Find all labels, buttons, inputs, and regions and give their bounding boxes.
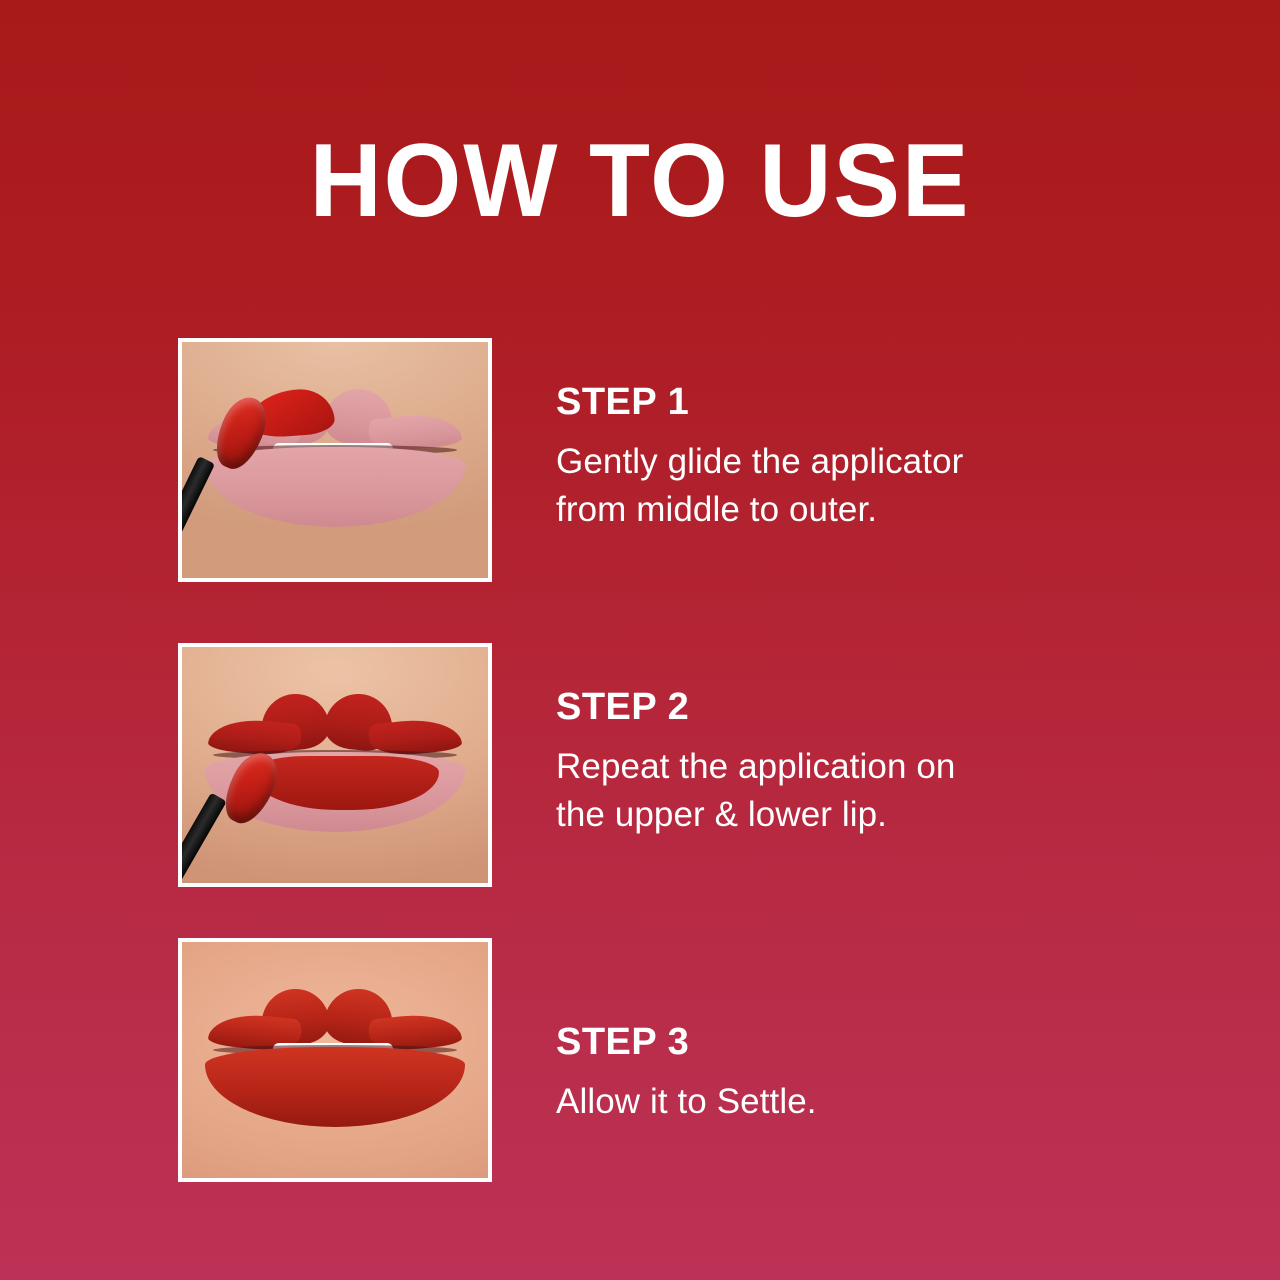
step-1-photo — [182, 342, 488, 578]
lips-illustration-step-3 — [205, 985, 465, 1135]
step-3-description: Allow it to Settle. — [556, 1078, 1096, 1126]
step-1-description: Gently glide the applicator from middle … — [556, 438, 1096, 534]
step-3-photo-frame — [178, 938, 492, 1182]
step-1-text: STEP 1 Gently glide the applicator from … — [556, 338, 1096, 534]
step-row-2: STEP 2 Repeat the application on the upp… — [178, 643, 1078, 887]
step-1-photo-frame — [178, 338, 492, 582]
step-2-photo-frame — [178, 643, 492, 887]
step-2-text: STEP 2 Repeat the application on the upp… — [556, 643, 1096, 839]
step-3-photo — [182, 942, 488, 1178]
step-2-description: Repeat the application on the upper & lo… — [556, 743, 1096, 839]
step-3-label: STEP 3 — [556, 1020, 1096, 1064]
step-row-3: STEP 3 Allow it to Settle. — [178, 938, 1078, 1182]
upper-lip — [205, 690, 465, 758]
step-3-text: STEP 3 Allow it to Settle. — [556, 938, 1096, 1126]
step-1-label: STEP 1 — [556, 380, 1096, 424]
step-2-label: STEP 2 — [556, 685, 1096, 729]
how-to-use-poster: HOW TO USE — [0, 0, 1280, 1280]
page-title: HOW TO USE — [26, 126, 1255, 236]
step-2-photo — [182, 647, 488, 883]
step-row-1: STEP 1 Gently glide the applicator from … — [178, 338, 1078, 582]
lower-lip — [205, 1047, 465, 1127]
